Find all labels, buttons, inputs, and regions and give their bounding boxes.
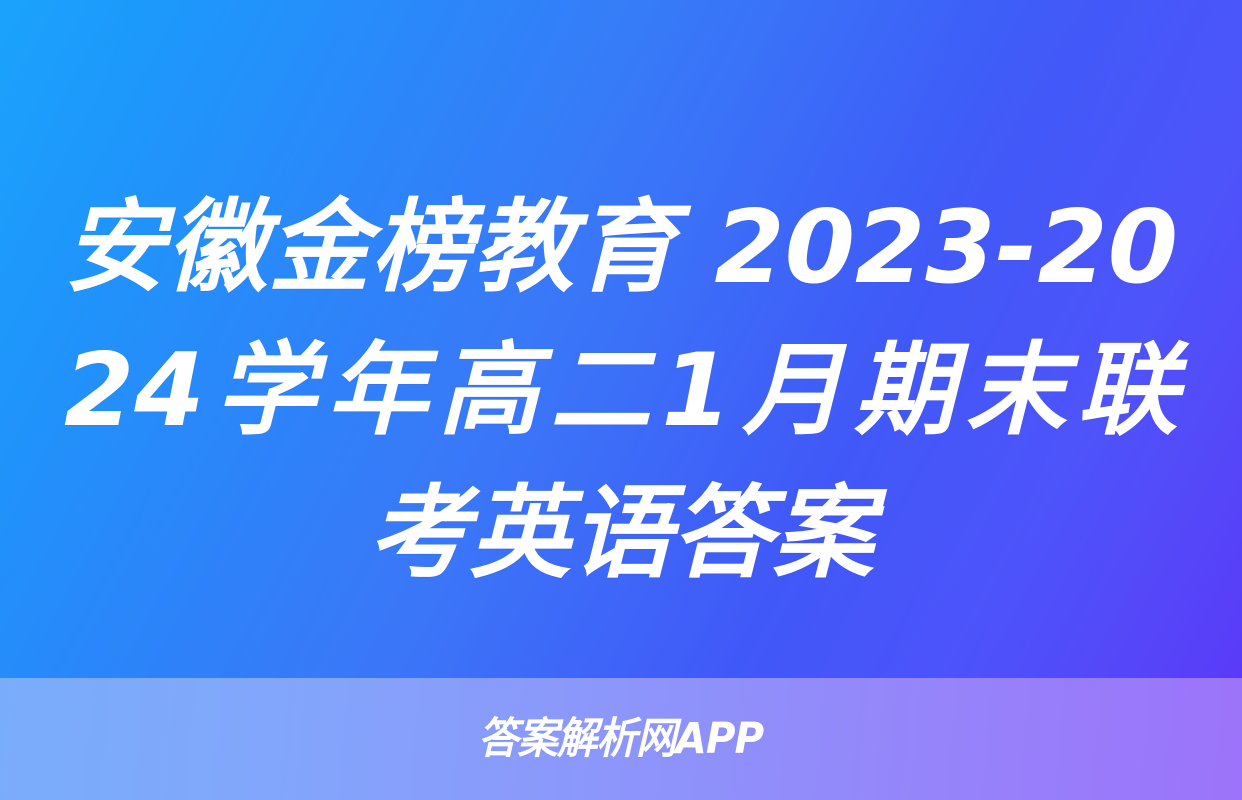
title-block: 安徽金榜教育 2023-2024学年高二1月期末联考英语答案: [64, 176, 1178, 605]
watermark-text: 答案解析网APP: [478, 718, 763, 761]
page-title: 安徽金榜教育 2023-2024学年高二1月期末联考英语答案: [64, 176, 1178, 605]
footer-watermark-band: 答案解析网APP: [0, 678, 1242, 800]
poster-root: 安徽金榜教育 2023-2024学年高二1月期末联考英语答案 答案解析网APP: [0, 0, 1242, 800]
hero-gradient-banner: 安徽金榜教育 2023-2024学年高二1月期末联考英语答案: [0, 0, 1242, 678]
